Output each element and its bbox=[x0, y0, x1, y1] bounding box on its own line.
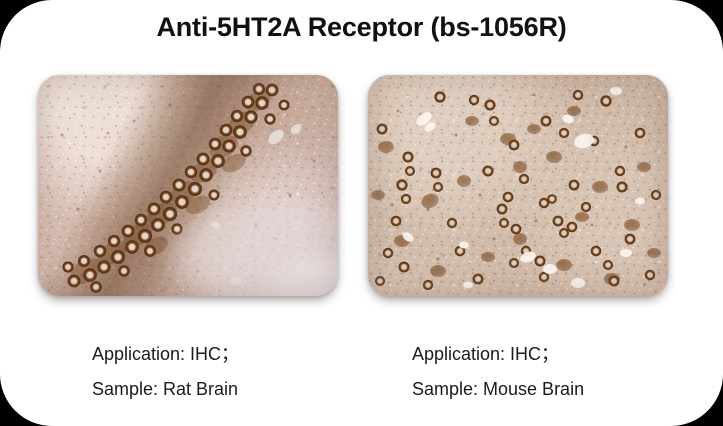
panel-vignette-rat bbox=[38, 75, 338, 296]
ihc-micrograph-rat-brain bbox=[38, 75, 338, 296]
caption-rat-application: Application: IHC； bbox=[92, 337, 239, 372]
ihc-micrograph-mouse-brain bbox=[368, 75, 668, 296]
figure-card: Anti-5HT2A Receptor (bs-1056R) bbox=[0, 0, 723, 426]
caption-mouse-sample: Sample: Mouse Brain bbox=[412, 372, 584, 407]
caption-mouse-application: Application: IHC； bbox=[412, 337, 584, 372]
panel-vignette-mouse bbox=[368, 75, 668, 296]
caption-rat-sample: Sample: Rat Brain bbox=[92, 372, 239, 407]
caption-mouse: Application: IHC； Sample: Mouse Brain bbox=[412, 337, 584, 407]
figure-title: Anti-5HT2A Receptor (bs-1056R) bbox=[0, 12, 723, 43]
ihc-image-panel-mouse[interactable] bbox=[368, 75, 668, 296]
caption-rat: Application: IHC； Sample: Rat Brain bbox=[92, 337, 239, 407]
ihc-image-panel-rat[interactable] bbox=[38, 75, 338, 296]
